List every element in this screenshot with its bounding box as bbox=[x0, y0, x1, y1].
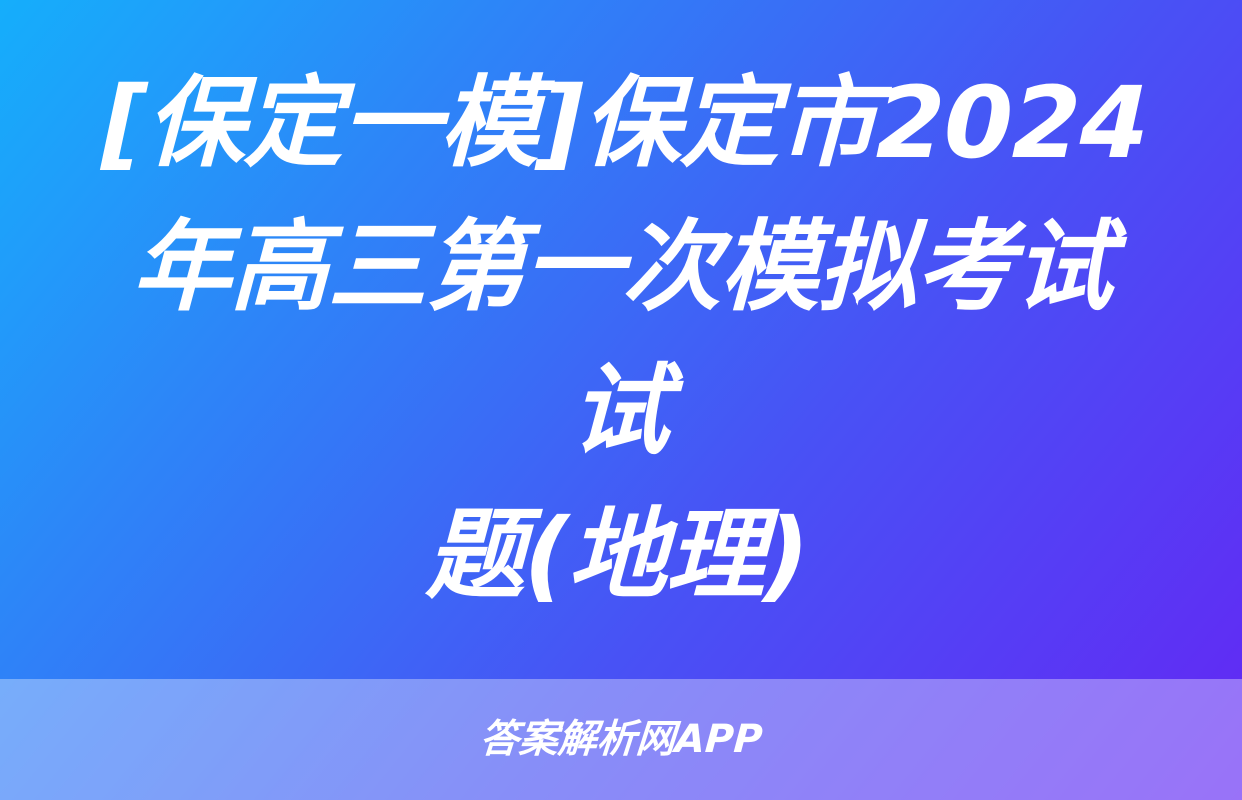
poster-canvas: [保定一模]保定市2024 年高三第一次模拟考试试 题(地理) 答案解析网APP bbox=[0, 0, 1242, 800]
watermark-band: 答案解析网APP bbox=[0, 679, 1242, 800]
watermark-label: 答案解析网APP bbox=[478, 720, 763, 759]
title-block: [保定一模]保定市2024 年高三第一次模拟考试试 题(地理) bbox=[0, 0, 1242, 679]
page-title: [保定一模]保定市2024 年高三第一次模拟考试试 题(地理) bbox=[91, 52, 1151, 628]
